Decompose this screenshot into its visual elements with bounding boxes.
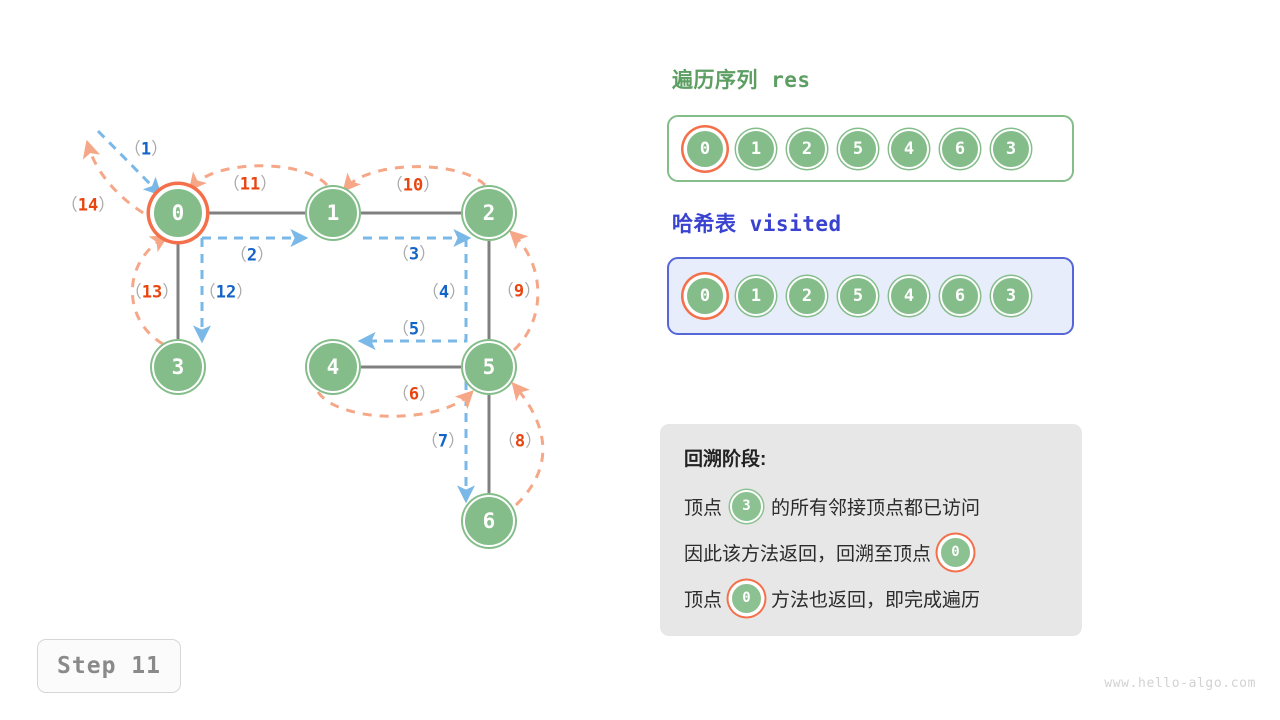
res-item-2: 2 bbox=[787, 129, 827, 169]
visited-panel-title: 哈希表 visited bbox=[672, 208, 842, 238]
step-badge: Step 11 bbox=[37, 639, 181, 693]
visited-item-5: 6 bbox=[940, 276, 980, 316]
visited-item-2: 2 bbox=[787, 276, 827, 316]
graph-node-0: 0 bbox=[152, 187, 204, 239]
step-label-7: （7） bbox=[421, 427, 465, 452]
step-label-6: （6） bbox=[392, 380, 436, 405]
res-item-6: 3 bbox=[991, 129, 1031, 169]
graph-node-5: 5 bbox=[463, 341, 515, 393]
step-label-11: （11） bbox=[223, 170, 277, 195]
info-line3-chip: 0 bbox=[730, 582, 763, 615]
step-label-14: （14） bbox=[61, 191, 115, 216]
res-panel-title: 遍历序列 res bbox=[672, 64, 811, 94]
info-line1-text-after: 的所有邻接顶点都已访问 bbox=[771, 493, 980, 520]
info-card-line-2: 因此该方法返回，回溯至顶点 0 bbox=[684, 529, 1058, 575]
graph-node-6: 6 bbox=[463, 495, 515, 547]
res-item-1: 1 bbox=[736, 129, 776, 169]
res-item-4: 4 bbox=[889, 129, 929, 169]
visited-item-4: 4 bbox=[889, 276, 929, 316]
graph-node-1: 1 bbox=[307, 187, 359, 239]
step-label-12: （12） bbox=[199, 278, 253, 303]
info-line2-chip: 0 bbox=[939, 536, 972, 569]
info-line3-text-after: 方法也返回，即完成遍历 bbox=[771, 585, 980, 612]
info-card-line-1: 顶点 3 的所有邻接顶点都已访问 bbox=[684, 483, 1058, 529]
step-label-13: （13） bbox=[125, 278, 179, 303]
res-item-3: 5 bbox=[838, 129, 878, 169]
info-line1-text-before: 顶点 bbox=[684, 493, 722, 520]
step-label-1: （1） bbox=[124, 135, 168, 160]
step-label-3: （3） bbox=[392, 240, 436, 265]
watermark: www.hello-algo.com bbox=[1104, 676, 1256, 691]
step-label-5: （5） bbox=[392, 315, 436, 340]
graph-node-4: 4 bbox=[307, 341, 359, 393]
visited-item-3: 5 bbox=[838, 276, 878, 316]
res-item-5: 6 bbox=[940, 129, 980, 169]
info-line2-text-before: 因此该方法返回，回溯至顶点 bbox=[684, 539, 931, 566]
res-item-0: 0 bbox=[685, 129, 725, 169]
info-card-line-3: 顶点 0 方法也返回，即完成遍历 bbox=[684, 575, 1058, 621]
info-card-heading: 回溯阶段: bbox=[684, 444, 1058, 471]
res-array: 0125463 bbox=[667, 115, 1074, 182]
step-label-10: （10） bbox=[386, 171, 440, 196]
step-label-8: （8） bbox=[498, 427, 542, 452]
step-label-9: （9） bbox=[497, 277, 541, 302]
info-line1-chip: 3 bbox=[730, 490, 763, 523]
visited-item-6: 3 bbox=[991, 276, 1031, 316]
visited-array: 0125463 bbox=[667, 257, 1074, 335]
step-label-4: （4） bbox=[422, 278, 466, 303]
step-label-2: （2） bbox=[230, 241, 274, 266]
info-line3-text-before: 顶点 bbox=[684, 585, 722, 612]
graph-node-3: 3 bbox=[152, 341, 204, 393]
backtracking-info-card: 回溯阶段: 顶点 3 的所有邻接顶点都已访问 因此该方法返回，回溯至顶点 0 顶… bbox=[660, 424, 1082, 636]
visited-item-1: 1 bbox=[736, 276, 776, 316]
visited-item-0: 0 bbox=[685, 276, 725, 316]
graph-node-2: 2 bbox=[463, 187, 515, 239]
